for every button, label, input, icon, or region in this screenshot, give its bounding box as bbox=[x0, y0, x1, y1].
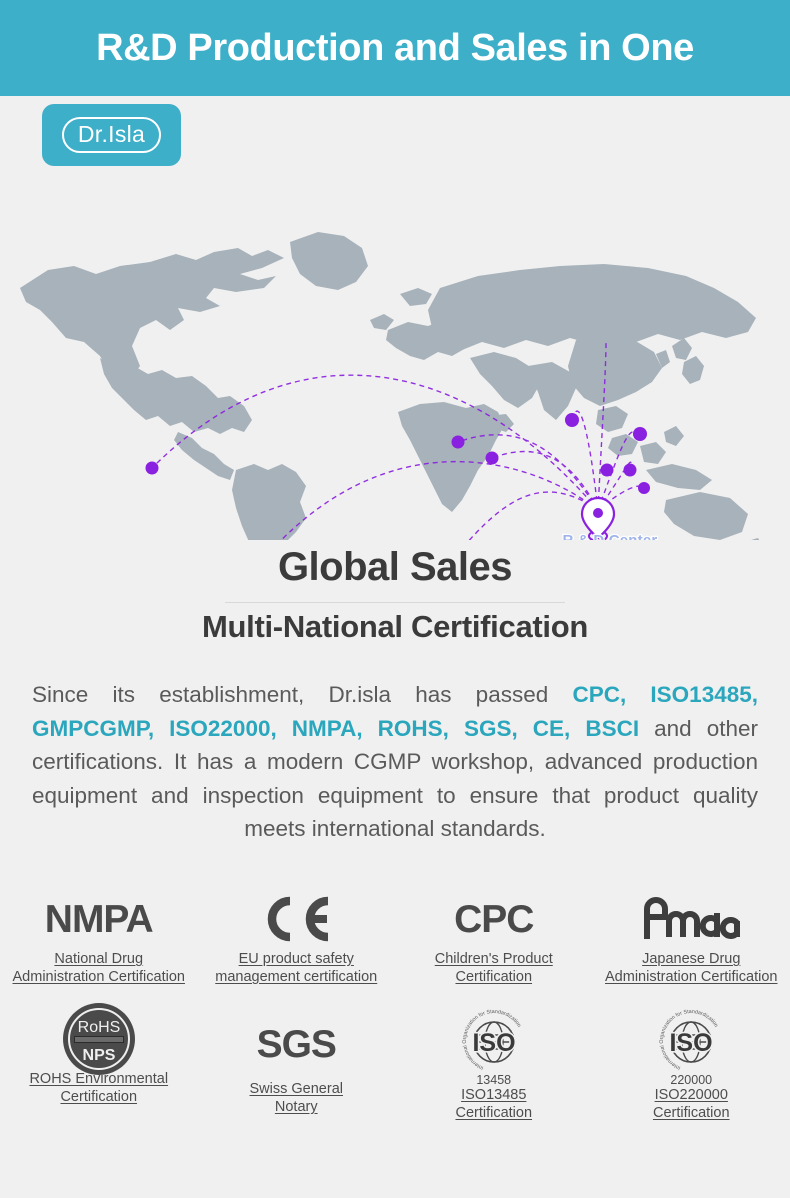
nmpa-wordmark-icon: NMPA bbox=[45, 888, 153, 950]
iso-wordmark-text: ISO bbox=[670, 1029, 713, 1057]
sgs-wordmark-text: SGS bbox=[257, 1025, 336, 1064]
caption-line-2: Administration Certification bbox=[605, 968, 777, 986]
certification-item-sgs: SGS Swiss General Notary bbox=[198, 1008, 396, 1118]
rd-center-label-text: R & D Center bbox=[563, 532, 658, 540]
world-map-svg bbox=[0, 170, 790, 540]
map-dot bbox=[633, 427, 647, 441]
map-landmasses bbox=[20, 232, 764, 540]
rohs-seal-icon: RoHS NPS bbox=[60, 1008, 138, 1070]
rd-center-label: R & D Center bbox=[545, 532, 675, 540]
certification-caption: ISO220000 Certification bbox=[653, 1086, 730, 1122]
certification-grid: NMPA National Drug Administration Certif… bbox=[0, 888, 790, 1118]
pmda-wordmark-glyph bbox=[637, 897, 745, 941]
certification-item-iso220000: International Organization for Standardi… bbox=[593, 1008, 790, 1118]
brand-logo: Dr.Isla bbox=[42, 104, 181, 166]
iso-globe-glyph: International Organization for Standardi… bbox=[648, 1008, 734, 1074]
iso-wordmark-text: ISO bbox=[472, 1029, 515, 1057]
page-title: R&D Production and Sales in One bbox=[96, 27, 694, 70]
caption-line-1: EU product safety bbox=[239, 950, 354, 968]
nmpa-wordmark-text: NMPA bbox=[45, 900, 153, 939]
caption-line-1: ISO220000 bbox=[655, 1086, 728, 1104]
certification-caption: ROHS Environmental Certification bbox=[29, 1070, 168, 1106]
section-subtitle: Multi-National Certification bbox=[0, 609, 790, 645]
rohs-seal-subtext: NPS bbox=[82, 1047, 115, 1064]
iso-number: 220000 bbox=[670, 1073, 712, 1087]
rohs-seal-text: RoHS bbox=[77, 1019, 120, 1036]
map-dot bbox=[601, 464, 614, 477]
caption-line-1: ROHS Environmental bbox=[29, 1070, 168, 1088]
certification-caption: Swiss General Notary bbox=[250, 1080, 343, 1116]
caption-line-1: Japanese Drug bbox=[642, 950, 740, 968]
intro-paragraph: Since its establishment, Dr.isla has pas… bbox=[32, 678, 758, 846]
certification-caption: Japanese Drug Administration Certificati… bbox=[605, 950, 777, 986]
logo-text: Dr.Isla bbox=[78, 122, 145, 146]
map-dot bbox=[486, 452, 499, 465]
cpc-wordmark-text: CPC bbox=[454, 900, 533, 939]
caption-line-2: Certification bbox=[653, 1104, 730, 1122]
map-dot bbox=[638, 482, 650, 494]
map-dot bbox=[624, 464, 637, 477]
certification-item-iso13485: International Organization for Standardi… bbox=[395, 1008, 593, 1118]
iso-globe-icon: International Organization for Standardi… bbox=[648, 1008, 734, 1086]
certification-caption: Children's Product Certification bbox=[435, 950, 553, 986]
map-dot bbox=[565, 413, 579, 427]
world-map: R & D Center bbox=[0, 170, 790, 540]
iso-globe-icon: International Organization for Standardi… bbox=[451, 1008, 537, 1086]
certification-caption: ISO13485 Certification bbox=[455, 1086, 532, 1122]
header-banner: R&D Production and Sales in One bbox=[0, 0, 790, 96]
caption-line-1: National Drug bbox=[54, 950, 143, 968]
certification-item-nmpa: NMPA National Drug Administration Certif… bbox=[0, 888, 198, 998]
section-title: Global Sales bbox=[0, 545, 790, 590]
map-dot bbox=[146, 462, 159, 475]
caption-line-2: Certification bbox=[455, 968, 532, 986]
sgs-wordmark-icon: SGS bbox=[257, 1008, 336, 1080]
ce-mark-glyph bbox=[260, 896, 332, 942]
caption-line-2: Certification bbox=[455, 1104, 532, 1122]
certification-caption: National Drug Administration Certificati… bbox=[13, 950, 185, 986]
caption-line-2: management certification bbox=[215, 968, 377, 986]
page-root: R&D Production and Sales in One Dr.Isla bbox=[0, 0, 790, 1198]
logo-pill-outline: Dr.Isla bbox=[62, 117, 161, 153]
caption-line-1: Children's Product bbox=[435, 950, 553, 968]
certification-item-pmda: Japanese Drug Administration Certificati… bbox=[593, 888, 790, 998]
rohs-seal-glyph: RoHS NPS bbox=[60, 1000, 138, 1078]
caption-line-2: Notary bbox=[275, 1098, 318, 1116]
iso-number: 13458 bbox=[476, 1073, 511, 1087]
caption-line-1: ISO13485 bbox=[461, 1086, 526, 1104]
caption-line-2: Certification bbox=[60, 1088, 137, 1106]
pmda-wordmark-icon bbox=[637, 888, 745, 950]
caption-line-1: Swiss General bbox=[250, 1080, 343, 1098]
ce-mark-icon bbox=[260, 888, 332, 950]
certification-item-cpc: CPC Children's Product Certification bbox=[395, 888, 593, 998]
certification-caption: EU product safety management certificati… bbox=[215, 950, 377, 986]
iso-globe-glyph: International Organization for Standardi… bbox=[451, 1008, 537, 1074]
cpc-wordmark-icon: CPC bbox=[454, 888, 533, 950]
map-dot bbox=[452, 436, 465, 449]
paragraph-lead: Since its establishment, Dr.isla has pas… bbox=[32, 682, 572, 707]
title-divider bbox=[225, 602, 565, 603]
certification-item-rohs: RoHS NPS ROHS Environmental Certificatio… bbox=[0, 1008, 198, 1118]
certification-item-ce: EU product safety management certificati… bbox=[198, 888, 396, 998]
caption-line-2: Administration Certification bbox=[13, 968, 185, 986]
